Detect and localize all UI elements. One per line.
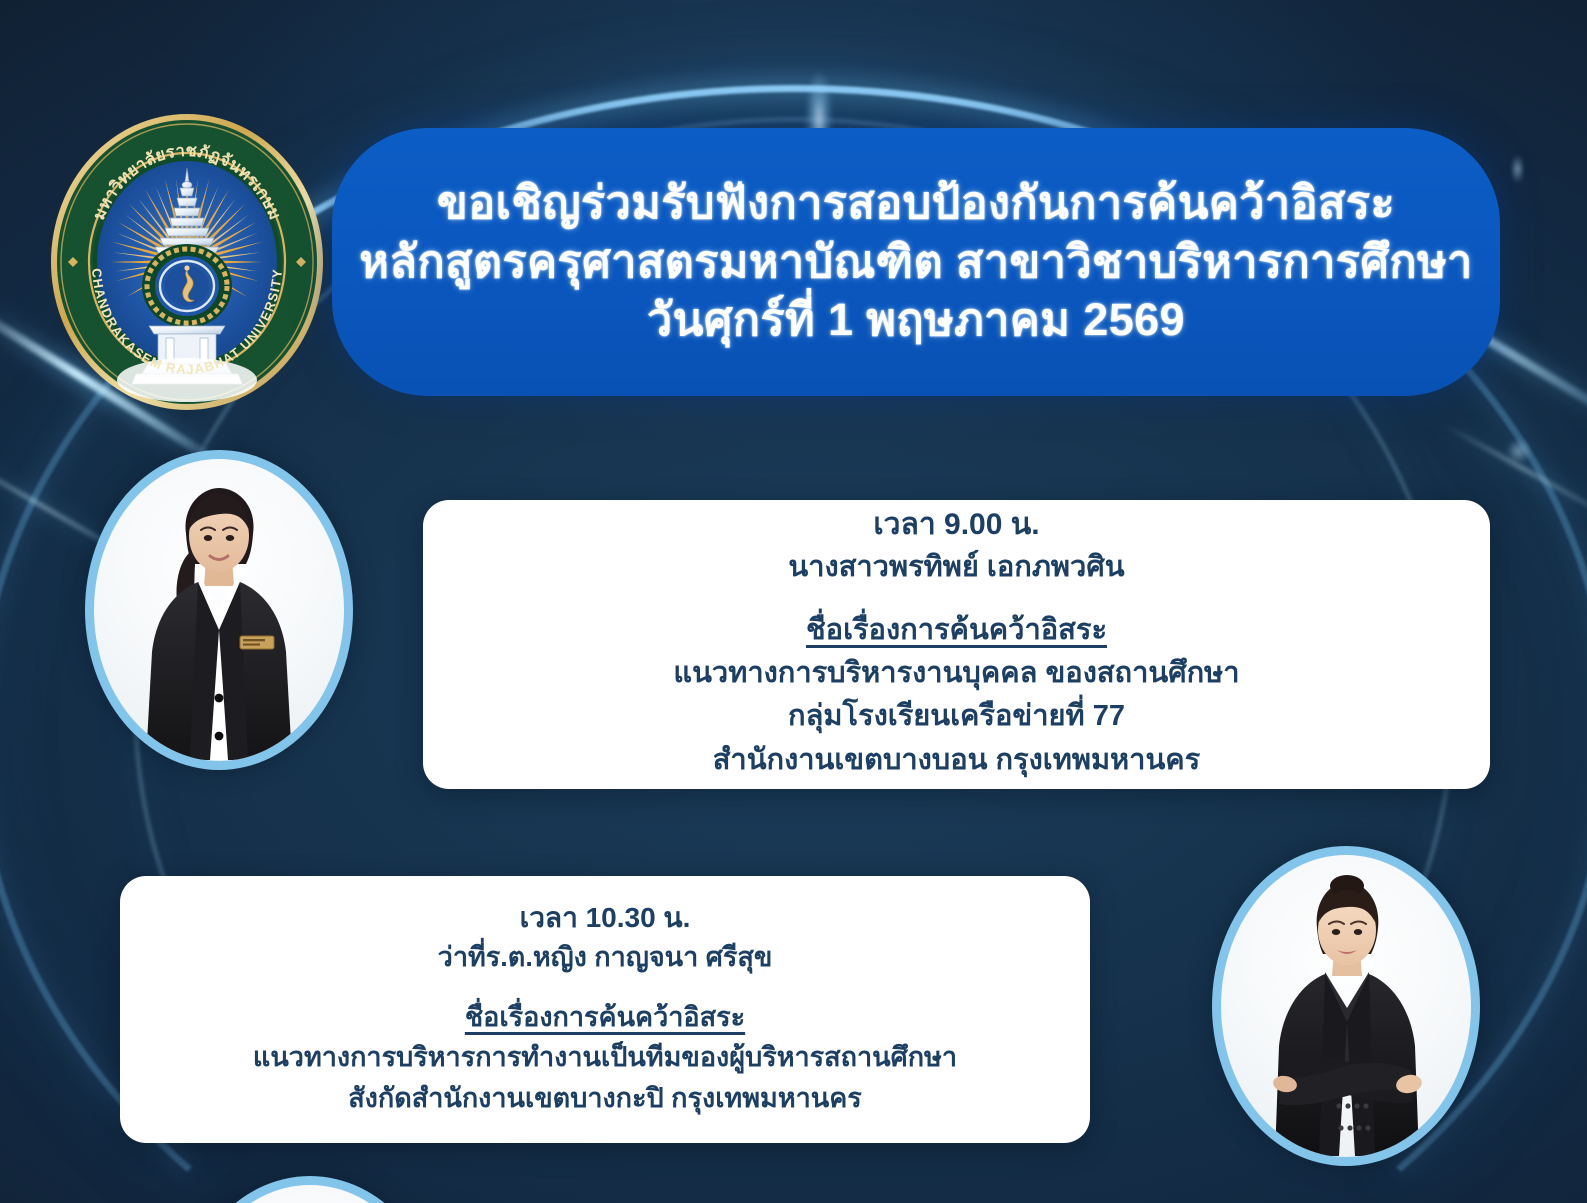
university-seal-icon: มหาวิทยาลัยราชภัฏจันทรเกษม CHANDRAKASEM … [48, 112, 326, 412]
session-1-heading: ชื่อเรื่องการค้นคว้าอิสระ [806, 610, 1107, 651]
portrait-photo-frame [94, 459, 344, 761]
session-1-topic-line-2: กลุ่มโรงเรียนเครือข่ายที่ 77 [788, 696, 1125, 737]
person-figure-icon [94, 459, 344, 761]
session-2-time: เวลา 10.30 น. [520, 898, 691, 938]
session-2-heading: ชื่อเรื่องการค้นคว้าอิสระ [465, 998, 745, 1036]
session-2-topic-line-1: แนวทางการบริหารการทำงานเป็นทีมของผู้บริห… [253, 1038, 957, 1076]
session-card-2: เวลา 10.30 น. ว่าที่ร.ต.หญิง กาญจนา ศรีส… [120, 876, 1090, 1143]
seal-english-name: CHANDRAKASEM RAJABHAT UNIVERSITY [0, 0, 1, 1]
person-figure-icon [185, 1185, 435, 1203]
session-2-topic-line-2: สังกัดสำนักงานเขตบางกะปิ กรุงเทพมหานคร [348, 1079, 862, 1117]
person-figure-icon [1221, 855, 1471, 1157]
banner-line-3: วันศุกร์ที่ 1 พฤษภาคม 2569 [647, 291, 1185, 350]
session-1-presenter: นางสาวพรทิพย์ เอกภพวศิน [788, 547, 1124, 588]
session-2-presenter: ว่าที่ร.ต.หญิง กาญจนา ศรีสุข [438, 938, 773, 976]
seal-thai-name: มหาวิทยาลัยราชภัฏจันทรเกษม [0, 0, 1, 1]
presenter-portrait-1 [85, 450, 353, 770]
banner-line-1: ขอเชิญร่วมรับฟังการสอบป้องกันการค้นคว้าอ… [437, 174, 1395, 233]
poster-canvas: มหาวิทยาลัยราชภัฏจันทรเกษม CHANDRAKASEM … [0, 0, 1587, 1203]
session-1-time: เวลา 9.00 น. [873, 504, 1039, 547]
portrait-photo-frame [185, 1185, 435, 1203]
session-1-topic-line-3: สำนักงานเขตบางบอน กรุงเทพมหานคร [713, 740, 1201, 781]
presenter-portrait-2 [1212, 846, 1480, 1166]
presenter-portrait-3 [176, 1176, 444, 1203]
session-card-1: เวลา 9.00 น. นางสาวพรทิพย์ เอกภพวศิน ชื่… [423, 500, 1490, 789]
banner-line-2: หลักสูตรครุศาสตรมหาบัณฑิต สาขาวิชาบริหาร… [359, 233, 1472, 292]
dust-mote-icon [1505, 440, 1533, 462]
portrait-photo-frame [1221, 855, 1471, 1157]
title-banner: ขอเชิญร่วมรับฟังการสอบป้องกันการค้นคว้าอ… [332, 128, 1500, 396]
dust-mote-icon [1513, 150, 1522, 188]
session-1-topic-line-1: แนวทางการบริหารงานบุคคล ของสถานศึกษา [673, 653, 1239, 694]
